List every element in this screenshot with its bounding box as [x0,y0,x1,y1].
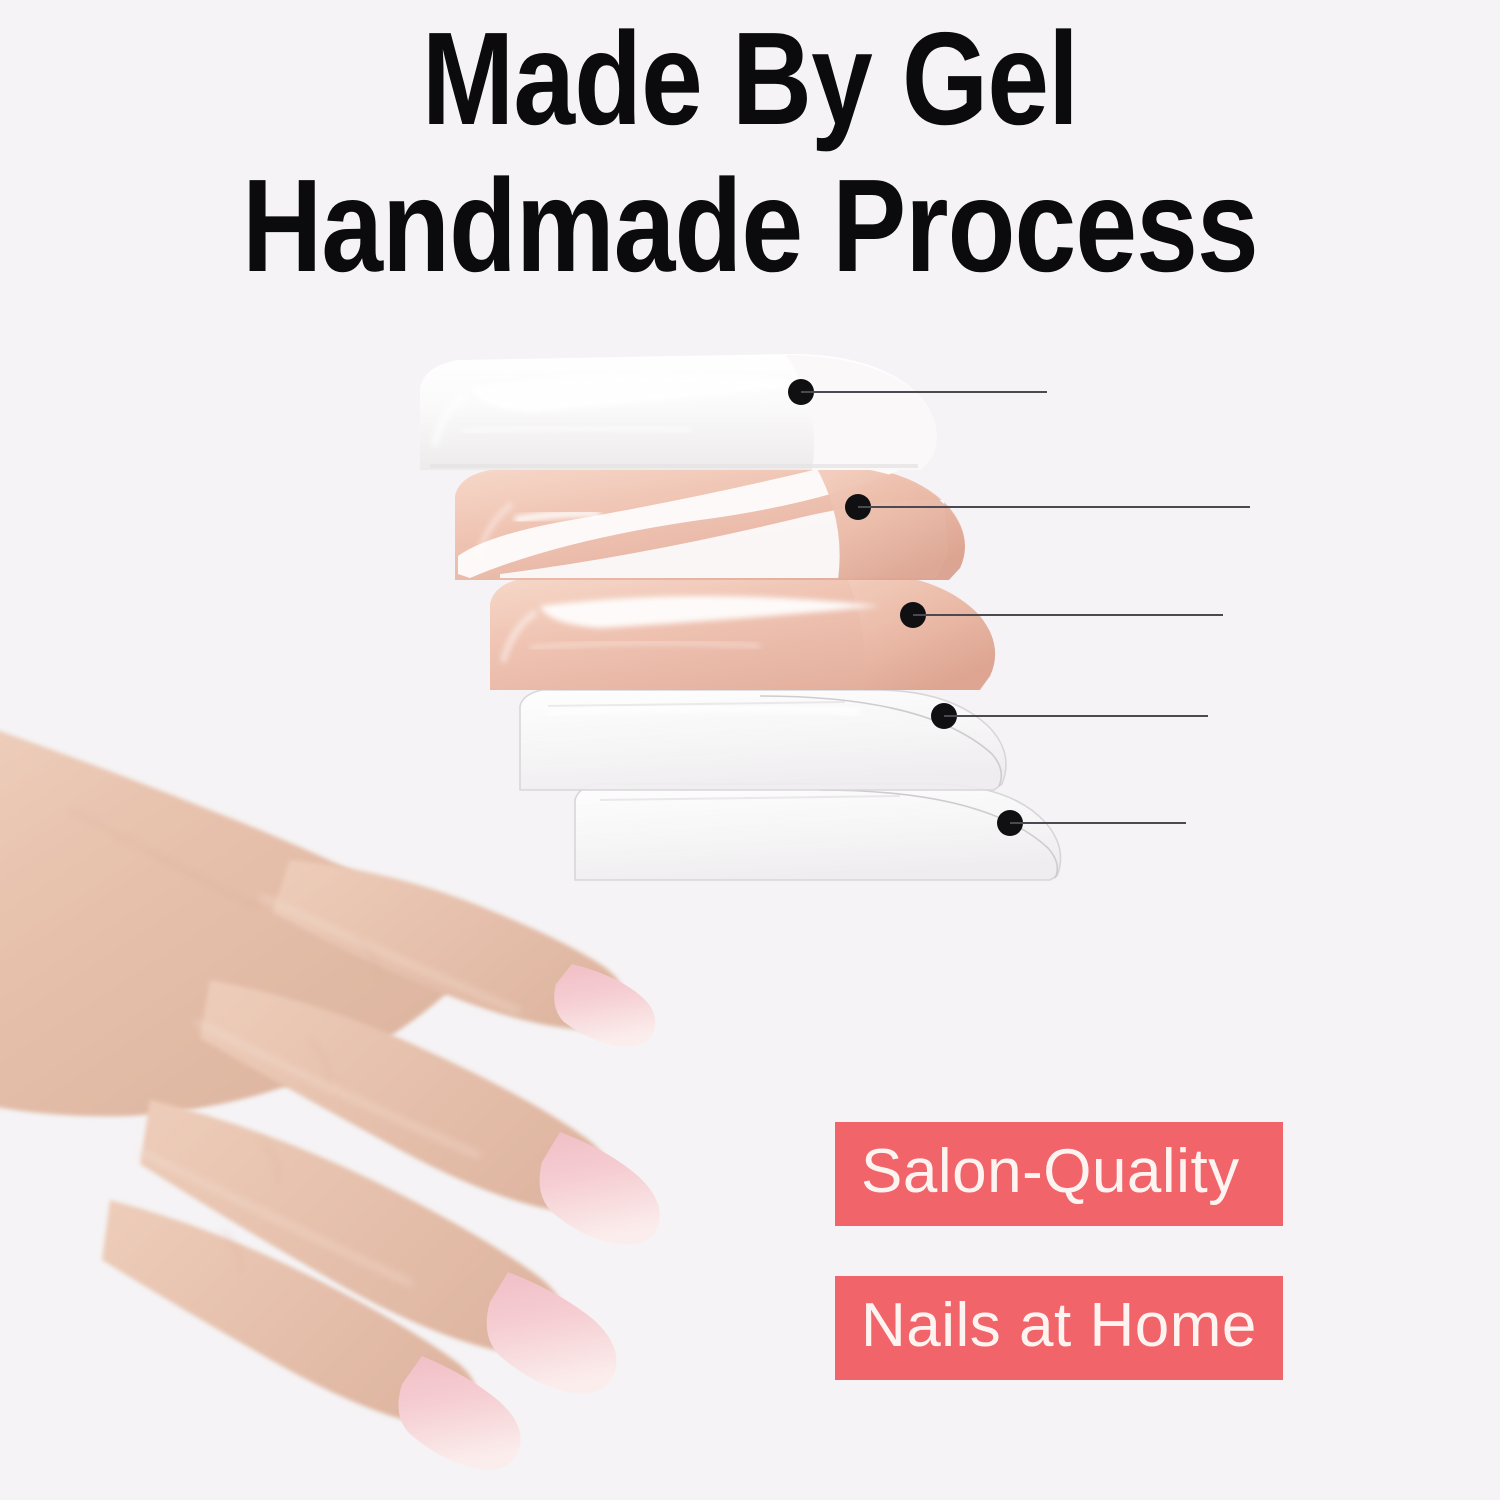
page-title: Made By Gel Handmade Process [0,14,1500,291]
callout-leader-base-coat [944,715,1208,717]
title-line-2: Handmade Process [120,161,1380,292]
callout-leader-soft-gel-tip [1010,822,1186,824]
title-line-1: Made By Gel [120,14,1380,145]
callout-leader-building-gel-finish [801,391,1047,393]
marketing-badges: Salon-Quality Nails at Home [835,1122,1283,1380]
callout-leader-pattern [858,506,1250,508]
infographic-canvas: Made By Gel Handmade Process [0,0,1500,1500]
callout-leader-color-gel [913,614,1223,616]
badge-nails-at-home: Nails at Home [835,1276,1283,1380]
badge-salon-quality: Salon-Quality [835,1122,1283,1226]
